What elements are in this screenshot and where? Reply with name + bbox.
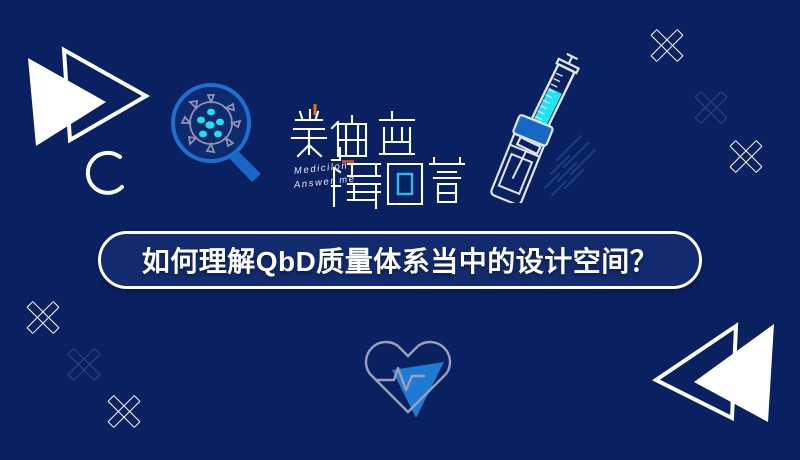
triangle-right-icon [14,28,154,148]
cross-icon-dim [65,345,103,383]
cross-icon [727,137,765,175]
syringe-icon [503,52,582,184]
syringe-vial-group [485,48,605,203]
cross-icon [648,26,686,64]
cross-icon [105,392,143,430]
logo-cjk-mark [288,98,473,213]
page-title: 如何理解QbD质量体系当中的设计空间？ [142,240,659,280]
heart-pulse-icon [352,322,464,422]
magnifier-virus-icon [163,78,273,188]
arc-icon [78,145,138,205]
medicilon-logo: Medicilon Answer me [288,98,473,213]
cross-icon-dim [692,88,730,126]
triangle-left-icon [648,318,788,438]
title-pill[interactable]: 如何理解QbD质量体系当中的设计空间？ [98,231,702,289]
cross-icon [24,298,62,336]
vial-icon [488,114,553,203]
banner-root: Medicilon Answer me [0,0,800,460]
